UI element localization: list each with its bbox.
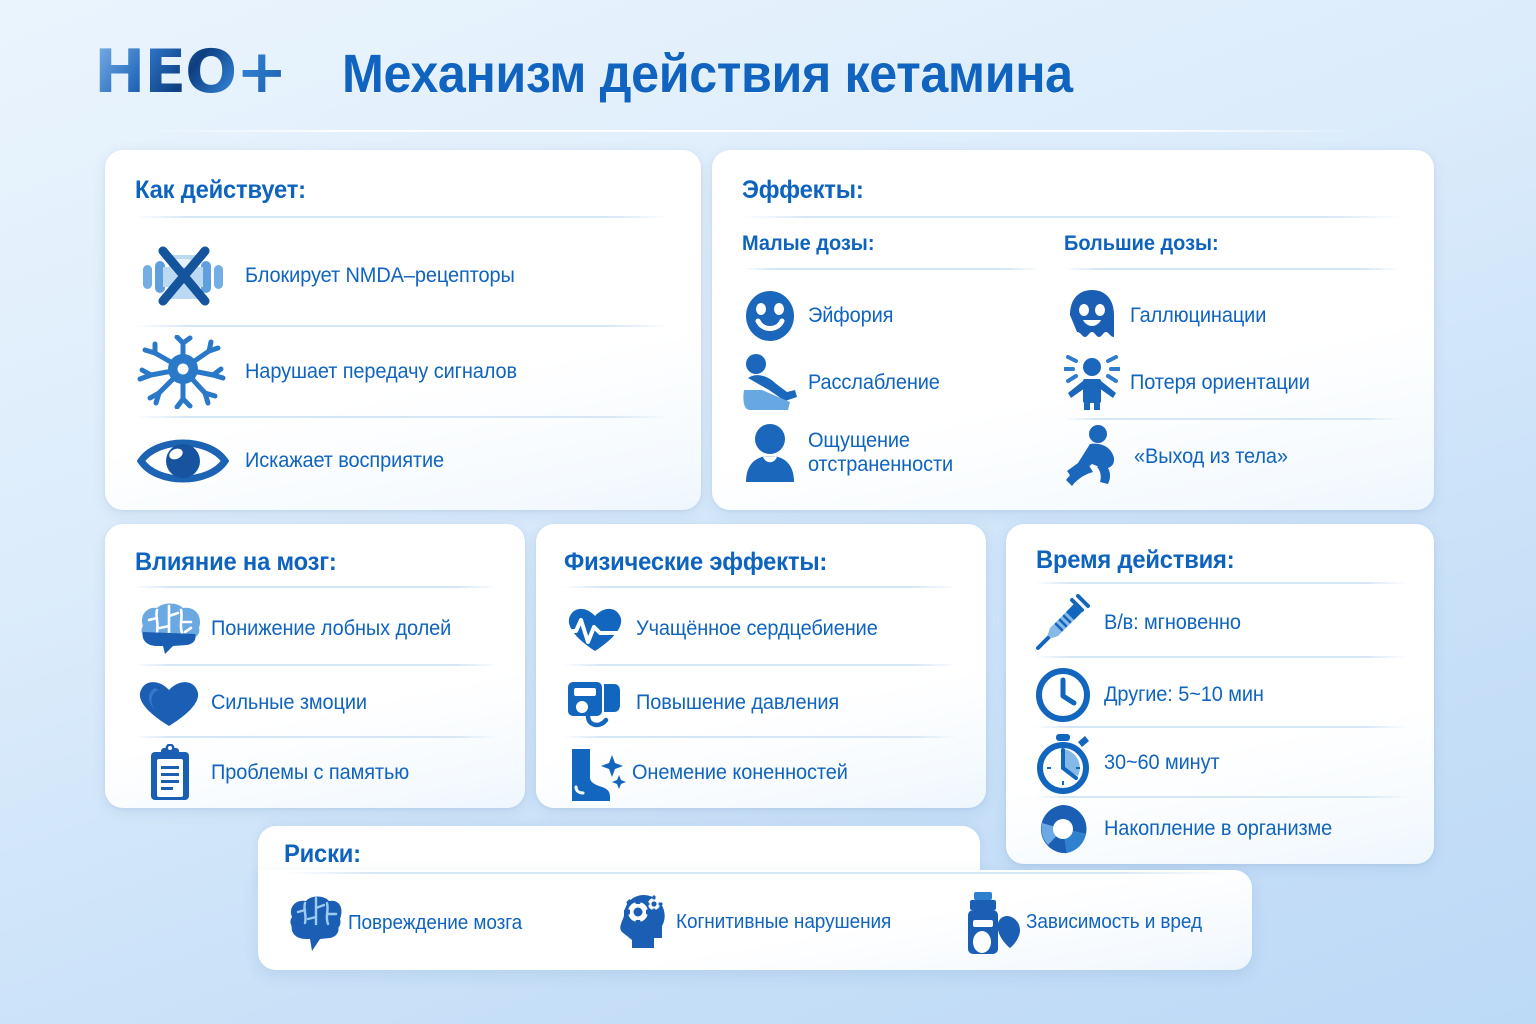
ghost-icon [1064,287,1120,345]
list-item[interactable]: Блокирует NMDA–рецепторы [135,238,675,314]
clipboard-icon [133,744,205,802]
list-item-label: Понижение лобных долей [211,617,451,641]
list-item-label: Повреждение мозга [348,912,522,935]
list-item[interactable]: Эйфория [742,284,1042,348]
card-brain-impact: Влияние на мозг: Понижение лобных долей [105,524,525,808]
list-item-label: Потеря ориентации [1130,371,1310,395]
divider [742,216,1404,218]
divider [133,586,499,588]
divider [1034,656,1408,658]
nmda-receptor-blocked-icon [135,243,231,309]
divider [133,736,499,738]
list-item[interactable]: Искажает восприятие [135,426,675,496]
list-item-label: Блокирует NMDA–рецепторы [245,264,515,288]
list-item-label: Нарушает передачу сигналов [245,360,517,384]
list-item-label: Галлюцинации [1130,304,1266,328]
divider [282,872,1228,874]
brain-icon [133,602,205,656]
divider [1034,796,1408,798]
boot-numbness-icon [562,745,628,801]
list-item-label: 30~60 минут [1104,751,1220,775]
card-risks-title: Риски: [284,840,361,869]
list-item[interactable]: «Выход из тела» [1064,422,1404,492]
confused-person-icon [1064,355,1120,411]
card-physical-effects: Физические эффекты: Учащённое сердцебиен… [536,524,986,808]
heartbeat-icon [562,603,628,655]
divider [1034,726,1408,728]
list-item[interactable]: Повреждение мозга [284,892,531,956]
syringe-icon [1034,594,1092,652]
list-item[interactable]: Нарушает передачу сигналов [135,334,675,410]
list-item[interactable]: Зависимость и вред [960,888,1211,958]
card-physical-title: Физические эффекты: [564,548,827,577]
list-item[interactable]: Понижение лобных долей [133,598,513,660]
list-item[interactable]: Повышение давления [562,672,972,734]
list-item[interactable]: 30~60 минут [1034,730,1424,796]
list-item-label: Сильные змоции [211,691,367,715]
card-brain-title: Влияние на мозг: [135,548,337,577]
person-bust-icon [742,422,798,484]
list-item[interactable]: Проблемы с памятью [133,742,513,804]
list-item-label: Накопление в организме [1104,817,1332,841]
list-item[interactable]: Ощущение отстраненности [742,418,1042,488]
list-item-label: Искажает восприятие [245,449,444,473]
card-effects-title: Эффекты: [742,176,864,205]
reclining-person-icon [742,352,798,414]
list-item-label: В/в: мгновенно [1104,611,1241,635]
list-item[interactable]: Другие: 5~10 мин [1034,664,1424,726]
pill-bottle-icon [960,890,1022,956]
list-item-label: Онемение коненностей [632,761,848,785]
list-item-label: Когнитивные нарушения [676,911,891,934]
blood-pressure-monitor-icon [562,674,628,732]
divider [562,664,958,666]
header-divider [128,130,1368,132]
page-header: НЕО+ Механизм действия кетамина [0,0,1536,140]
stopwatch-icon [1034,732,1092,794]
list-item[interactable]: В/в: мгновенно [1034,592,1424,654]
card-how-it-works: Как действует: Блокирует NMDA–рецепторы [105,150,701,510]
list-item-label: Учащённое сердцебиение [636,617,878,641]
divider [562,736,958,738]
divider [135,325,671,327]
donut-chart-icon [1034,801,1092,857]
list-item-label: Проблемы с памятью [211,761,409,785]
list-item[interactable]: Накопление в организме [1034,800,1424,858]
clock-icon [1034,667,1092,723]
neuron-icon [135,335,231,409]
divider [1064,268,1402,270]
divider [742,268,1040,270]
list-item-label: Ощущение отстраненности [808,429,953,478]
card-effects: Эффекты: Малые дозы: Эйфория [712,150,1434,510]
list-item-label: Зависимость и вред [1026,911,1202,934]
list-item-label: Эйфория [808,304,893,328]
list-item[interactable]: Расслабление [742,350,1042,416]
card-how-title: Как действует: [135,176,306,205]
list-item[interactable]: Учащённое сердцебиение [562,598,972,660]
divider [133,664,499,666]
heart-icon [133,678,205,728]
list-item-label: Другие: 5~10 мин [1104,683,1264,707]
page-title: Механизм действия кетамина [342,44,1073,104]
list-item[interactable]: Когнитивные нарушения [612,888,903,958]
neo-plus-logo: НЕО+ [94,42,286,102]
list-item[interactable]: Онемение коненностей [562,742,972,804]
card-duration-title: Время действия: [1036,546,1234,575]
subtitle-high-doses: Большие дозы: [1064,232,1387,256]
divider [135,416,671,418]
list-item-label: «Выход из тела» [1134,445,1288,469]
divider [135,216,671,218]
head-gears-icon [612,890,672,956]
list-item-label: Повышение давления [636,691,839,715]
floating-person-icon [1064,424,1124,490]
list-item[interactable]: Сильные змоции [133,672,513,734]
damaged-brain-icon [284,895,344,953]
list-item-label: Расслабление [808,371,940,395]
list-item[interactable]: Потеря ориентации [1064,350,1404,416]
eye-icon [135,433,231,489]
card-risks: Повреждение мозга [258,870,1252,970]
divider [1034,582,1408,584]
subtitle-low-doses: Малые дозы: [742,232,1027,256]
list-item[interactable]: Галлюцинации [1064,284,1404,348]
smiley-face-icon [742,288,798,344]
divider [1064,418,1402,420]
divider [562,586,958,588]
card-duration: Время действия: В/в: мгновенно [1006,524,1434,864]
